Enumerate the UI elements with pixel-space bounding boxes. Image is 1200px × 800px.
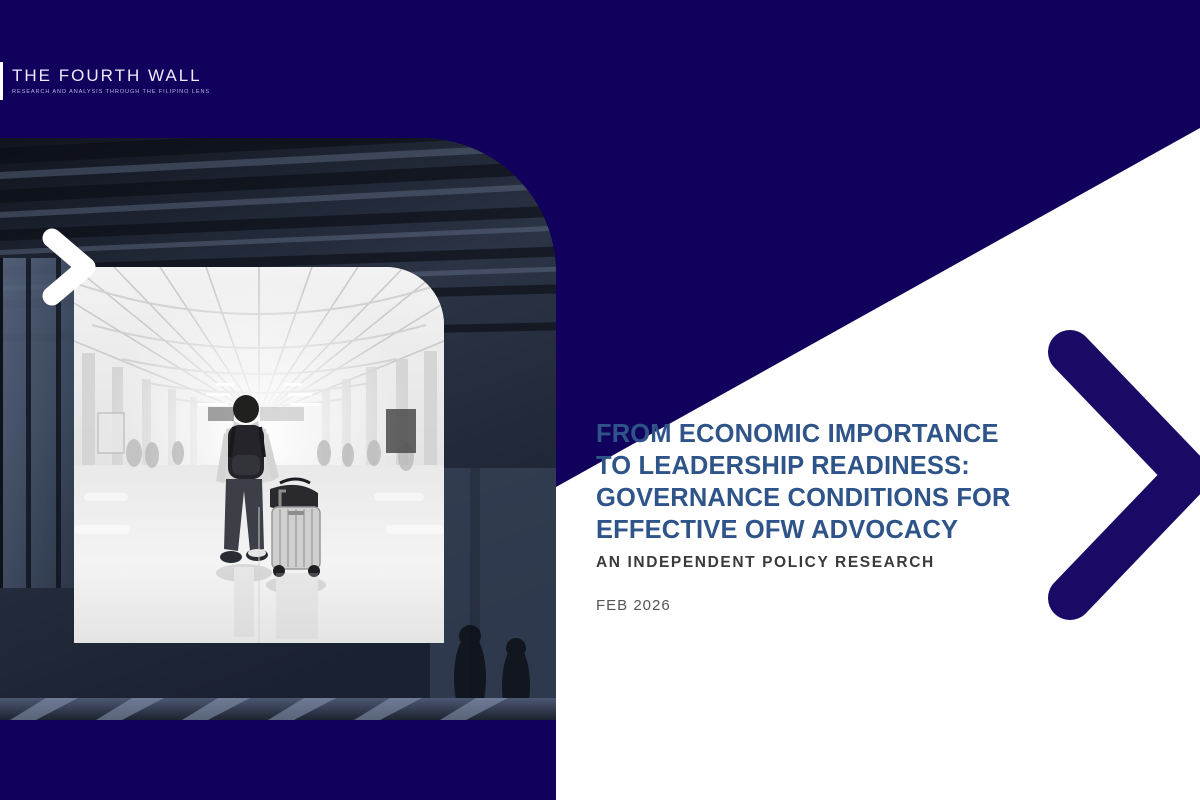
- chevron-right-icon: [1048, 330, 1200, 620]
- cover-text-block: FROM ECONOMIC IMPORTANCE TO LEADERSHIP R…: [596, 418, 1066, 614]
- publication-date: FEB 2026: [596, 597, 1066, 614]
- title-line-3: GOVERNANCE CONDITIONS FOR: [596, 482, 1066, 514]
- photo-card: [74, 267, 444, 643]
- chevron-right-icon: [42, 228, 108, 306]
- brand-logo: THE FOURTH WALL RESEARCH AND ANALYSIS TH…: [0, 62, 210, 100]
- logo-name: THE FOURTH WALL: [12, 66, 210, 86]
- cover-slide: THE FOURTH WALL RESEARCH AND ANALYSIS TH…: [0, 0, 1200, 800]
- page-subtitle: AN INDEPENDENT POLICY RESEARCH: [596, 554, 1066, 572]
- page-title: FROM ECONOMIC IMPORTANCE TO LEADERSHIP R…: [596, 418, 1066, 546]
- title-line-1: FROM ECONOMIC IMPORTANCE: [596, 418, 1066, 450]
- logo-accent-bar: [0, 62, 3, 100]
- traveler-photo: [74, 267, 444, 643]
- logo-tagline: RESEARCH AND ANALYSIS THROUGH THE FILIPI…: [12, 88, 210, 96]
- title-line-4: EFFECTIVE OFW ADVOCACY: [596, 514, 1066, 546]
- title-line-2: TO LEADERSHIP READINESS:: [596, 450, 1066, 482]
